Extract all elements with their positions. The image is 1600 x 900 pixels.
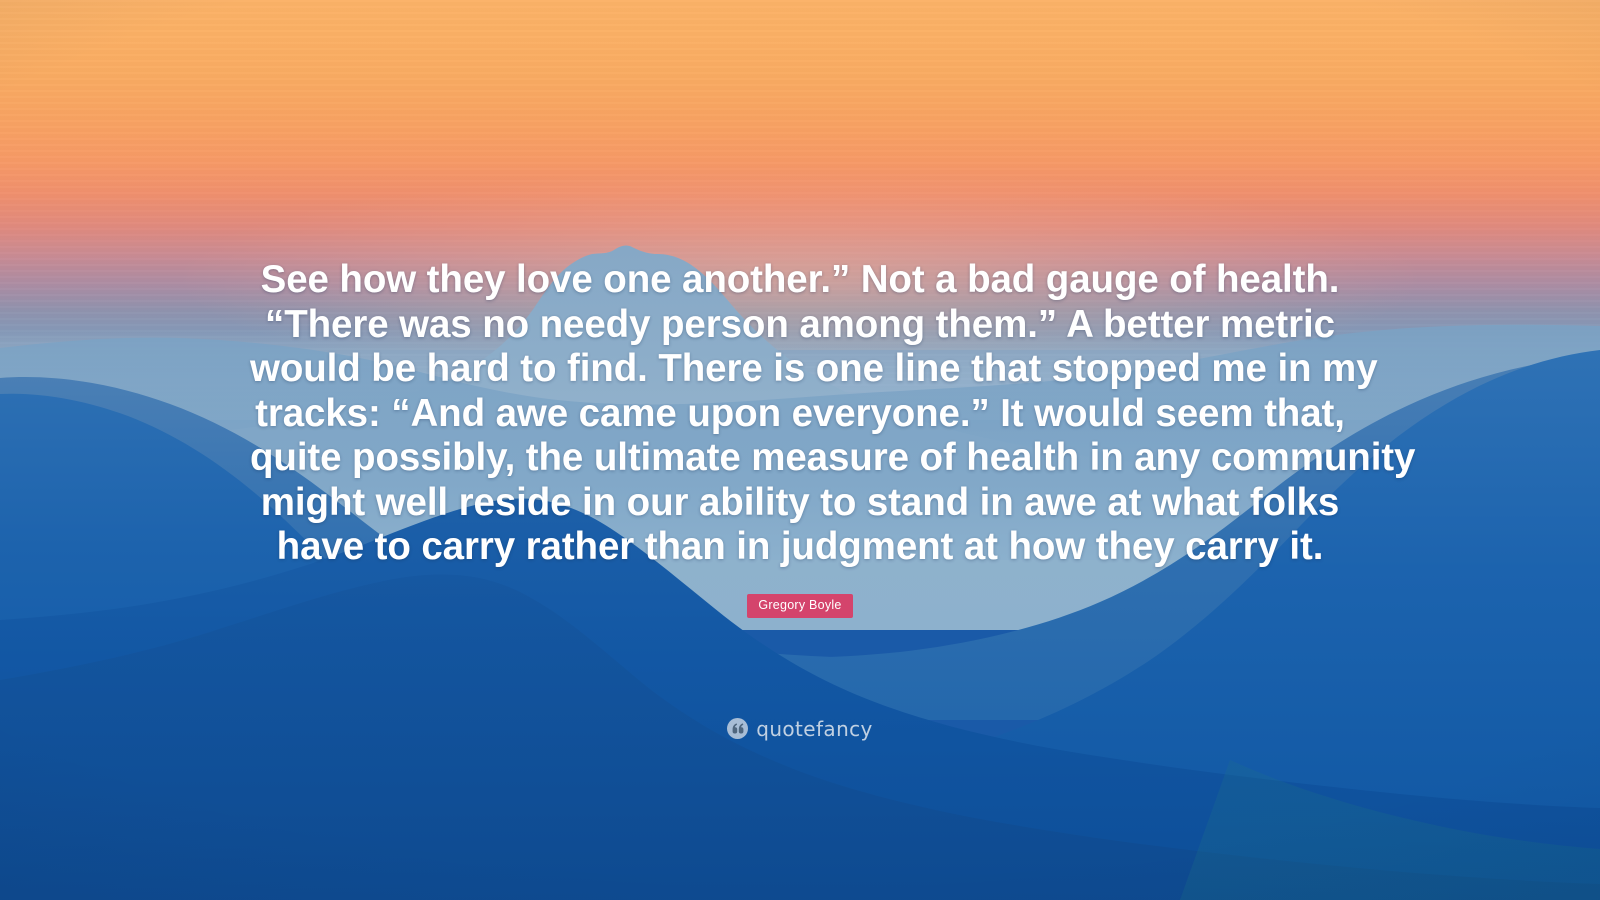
quote-wallpaper: See how they love one another.” Not a ba… [0, 0, 1600, 900]
quote-line: tracks: “And awe came upon everyone.” It… [250, 392, 1350, 437]
quotefancy-watermark[interactable]: quotefancy [0, 718, 1600, 739]
author-name-badge[interactable]: Gregory Boyle [747, 594, 852, 618]
quote-mark-icon [727, 718, 748, 739]
quote-line: would be hard to find. There is one line… [250, 347, 1350, 392]
quote-line: See how they love one another.” Not a ba… [250, 258, 1350, 303]
quote-line: quite possibly, the ultimate measure of … [250, 436, 1350, 481]
author-badge-container: Gregory Boyle [0, 594, 1600, 618]
quote-text-block: See how they love one another.” Not a ba… [0, 258, 1600, 570]
quotefancy-brand-text: quotefancy [756, 719, 873, 739]
quote-line: “There was no needy person among them.” … [250, 303, 1350, 348]
quote-line: have to carry rather than in judgment at… [250, 525, 1350, 570]
quote-line: might well reside in our ability to stan… [250, 481, 1350, 526]
